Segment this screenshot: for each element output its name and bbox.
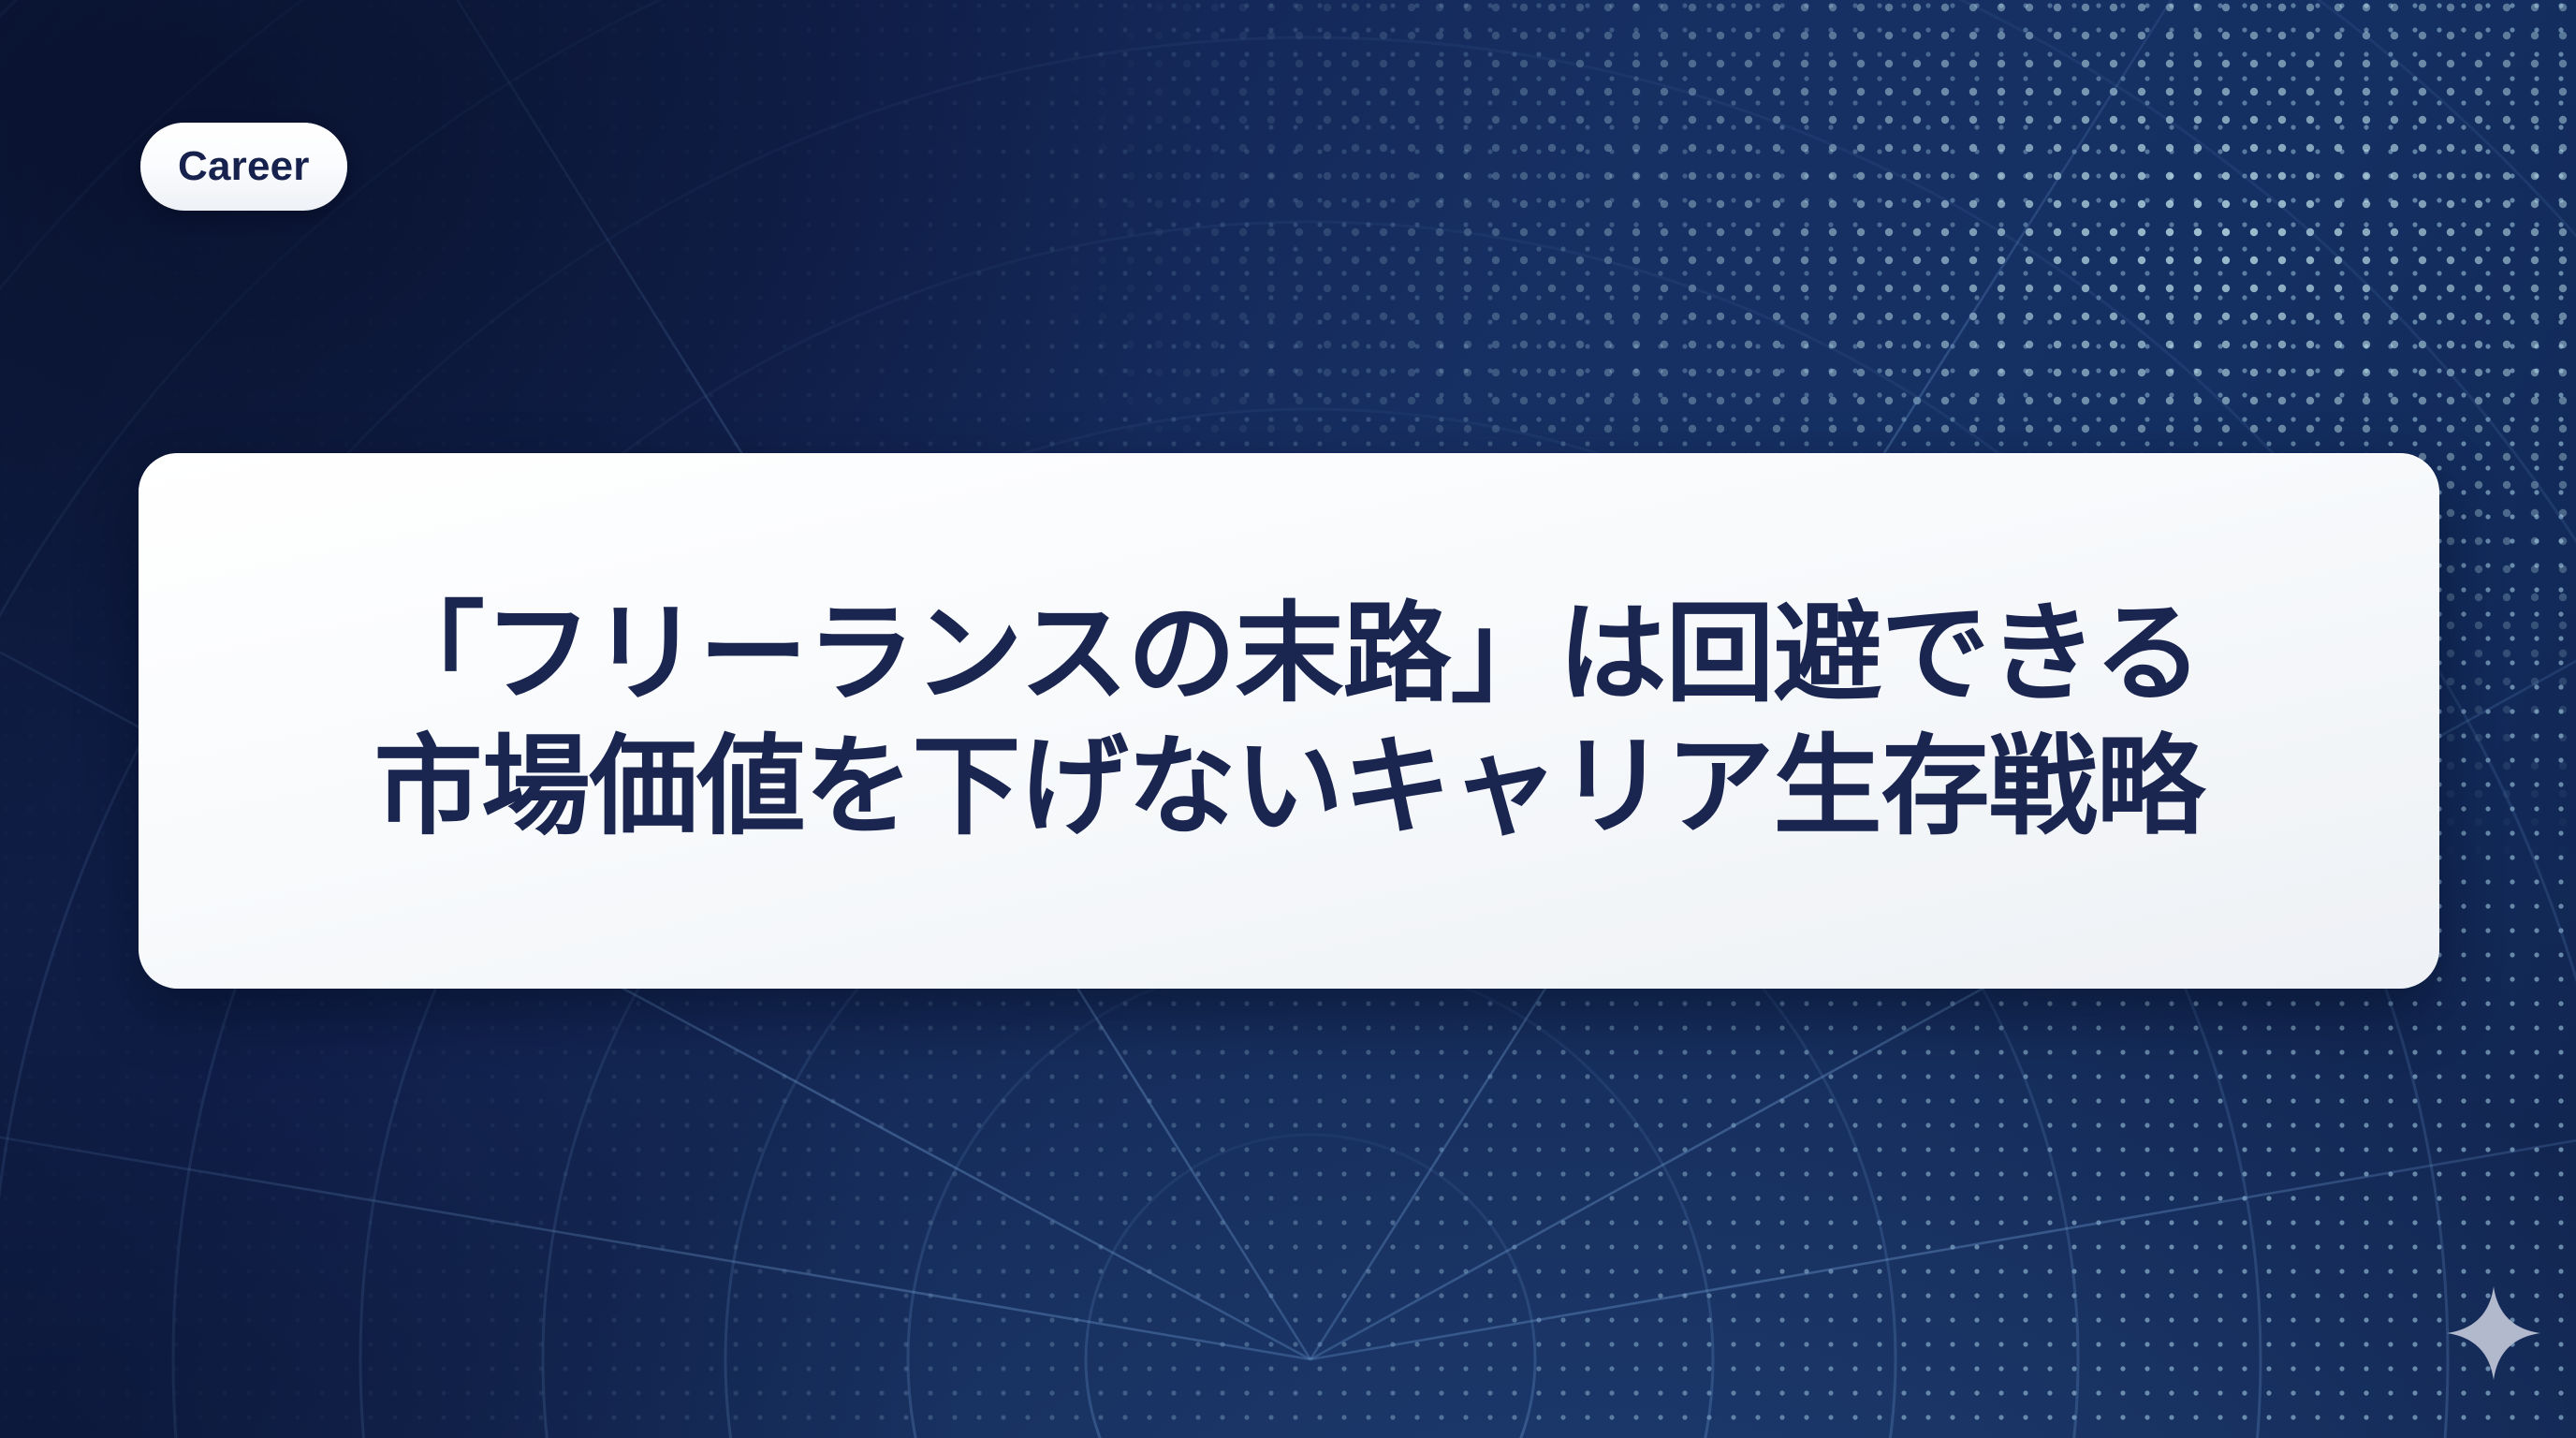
category-badge[interactable]: Career bbox=[140, 123, 347, 211]
page-title: 「フリーランスの末路」は回避できる 市場価値を下げないキャリア生存戦略 bbox=[374, 588, 2204, 853]
page-title-line-2: 市場価値を下げないキャリア生存戦略 bbox=[374, 721, 2204, 854]
title-card: 「フリーランスの末路」は回避できる 市場価値を下げないキャリア生存戦略 bbox=[139, 453, 2439, 989]
sparkle-icon bbox=[2445, 1284, 2542, 1382]
page-title-line-1: 「フリーランスの末路」は回避できる bbox=[374, 588, 2204, 721]
og-image-canvas: Career 「フリーランスの末路」は回避できる 市場価値を下げないキャリア生存… bbox=[0, 0, 2576, 1438]
category-badge-label: Career bbox=[178, 146, 310, 187]
